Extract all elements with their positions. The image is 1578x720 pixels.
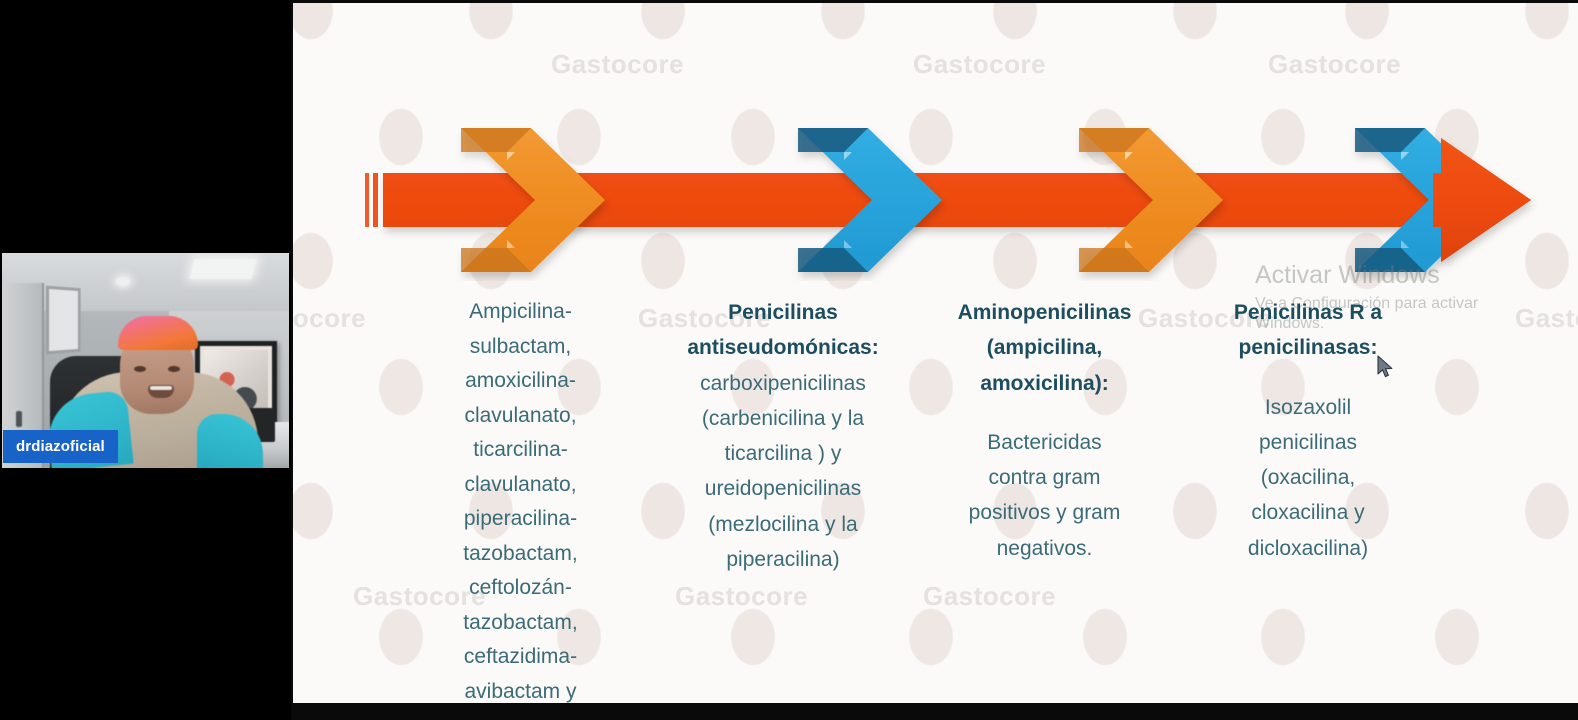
- column-body: Ampicilina- sulbactam, amoxicilina- clav…: [413, 295, 628, 703]
- chevron-arrow-2: [798, 128, 942, 272]
- column-heading: Penicilinas R a penicilinasas:: [1197, 295, 1419, 366]
- main-orange-arrow: [383, 138, 1531, 262]
- person-eye-right: [168, 366, 180, 372]
- chevron-arrow-3: [1079, 128, 1223, 272]
- column-penicilinas-r-penicilinasas: Penicilinas R a penicilinasas: Isozaxoli…: [1197, 295, 1419, 703]
- person-beanie: [118, 316, 198, 350]
- process-arrow-diagram: [293, 111, 1578, 281]
- screen-share-stage: drdiazoficial Gastocore Gastocore Gastoc…: [0, 0, 1578, 720]
- participant-name-badge: drdiazoficial: [3, 430, 118, 463]
- door-handle-icon: [16, 411, 22, 427]
- watermark-word: Gastocore: [1268, 49, 1401, 80]
- watermark-word: Gastocore: [551, 49, 684, 80]
- chevron-arrow-4: [1355, 128, 1499, 272]
- slide-text-columns: Ampicilina- sulbactam, amoxicilina- clav…: [293, 295, 1578, 703]
- watermark-word: Gastocore: [913, 49, 1046, 80]
- main-arrow-head: [1433, 138, 1531, 262]
- video-rail: drdiazoficial: [0, 0, 291, 720]
- column-heading: Aminopenicilinas (ampicilina, amoxicilin…: [932, 295, 1157, 401]
- shared-slide[interactable]: Gastocore Gastocore Gastocore Gastocore …: [293, 3, 1578, 703]
- wall-picture-left: [46, 286, 81, 355]
- person-mouth: [148, 385, 174, 398]
- ceiling-spotlight-icon: [116, 277, 130, 286]
- windows-activation-title: Activar Windows: [1255, 261, 1555, 289]
- ceiling-light-icon: [190, 259, 257, 279]
- column-body: Isozaxolil penicilinas (oxacilina, cloxa…: [1197, 390, 1419, 566]
- participant-name-label: drdiazoficial: [16, 438, 105, 455]
- column-penicilinas-antiseudomonicas: Penicilinas antiseudomónicas: carboxipen…: [652, 295, 914, 703]
- chevron-arrow-1: [461, 128, 605, 272]
- column-ampicilina-sulbactam: Ampicilina- sulbactam, amoxicilina- clav…: [413, 295, 628, 703]
- column-body: Bactericidas contra gram positivos y gra…: [932, 425, 1157, 566]
- person-eye-left: [134, 366, 146, 372]
- column-aminopenicilinas: Aminopenicilinas (ampicilina, amoxicilin…: [932, 295, 1157, 703]
- column-body: carboxipenicilinas (carbenicilina y la t…: [652, 366, 914, 578]
- column-heading: Penicilinas antiseudomónicas:: [652, 295, 914, 366]
- arrow-tail-stripes: [365, 173, 378, 227]
